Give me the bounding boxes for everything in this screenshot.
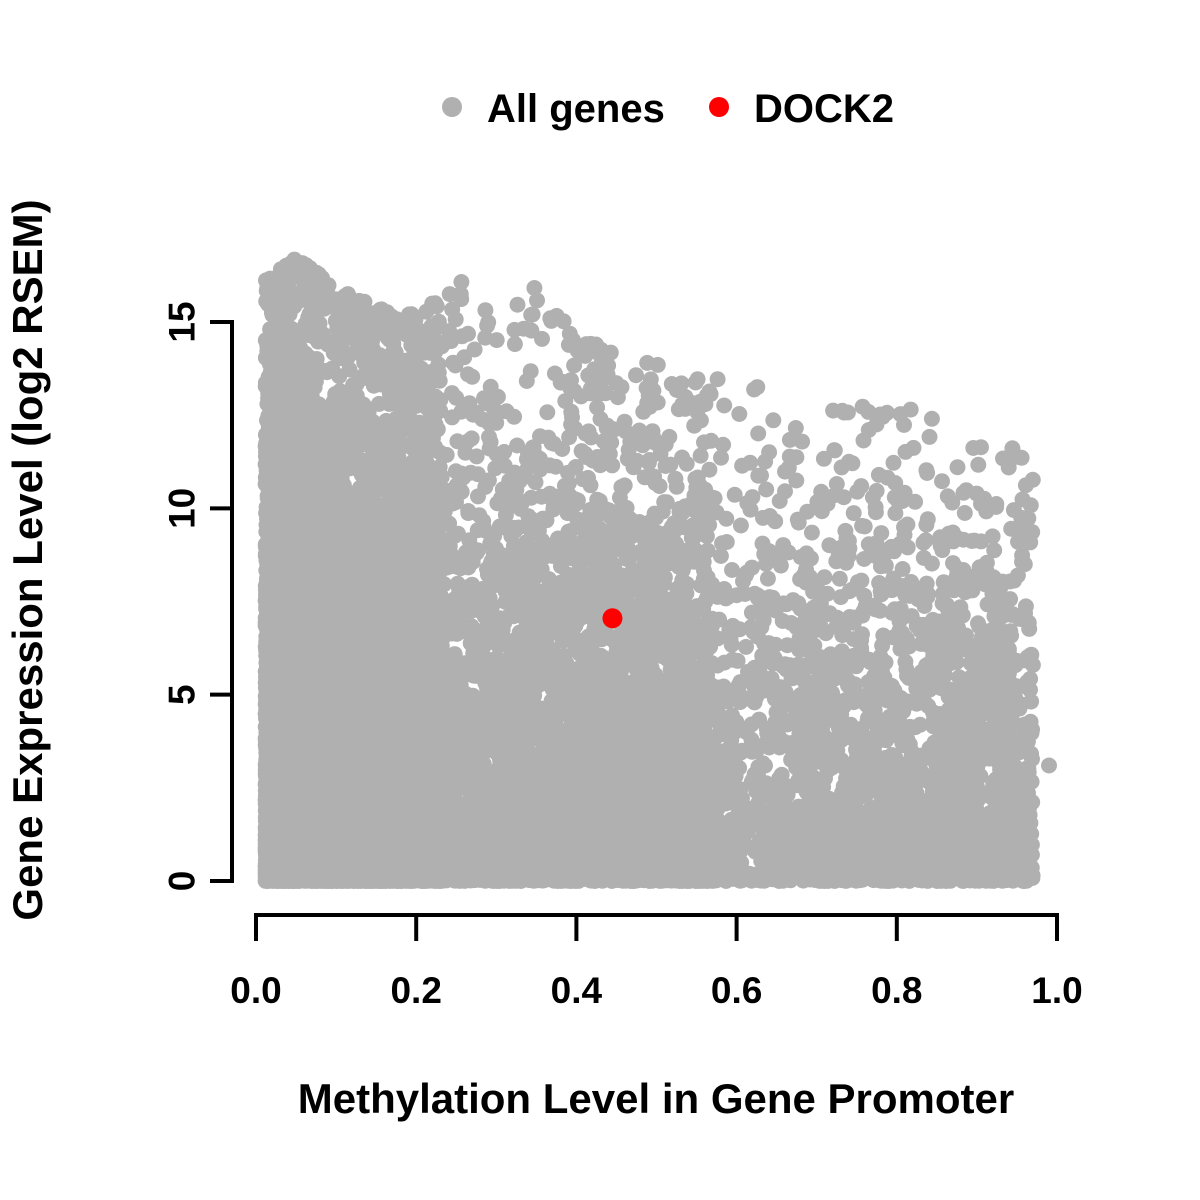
legend-label: DOCK2 xyxy=(754,87,894,131)
y-tick-label: 5 xyxy=(162,684,203,705)
x-tick-label: 0.0 xyxy=(230,970,281,1011)
y-tick-label: 10 xyxy=(162,488,203,529)
plot-canvas: 051015 0.00.20.40.60.81.0 Methylation Le… xyxy=(0,0,1200,1200)
dock2-data-point xyxy=(602,608,622,628)
y-tick-label: 0 xyxy=(162,871,203,892)
y-tick-label: 15 xyxy=(162,301,203,342)
dock2-point-group xyxy=(602,608,622,628)
legend-marker-icon xyxy=(709,97,729,117)
x-axis-title: Methylation Level in Gene Promoter xyxy=(298,1075,1014,1122)
legend-label: All genes xyxy=(487,87,665,131)
x-tick-label: 1.0 xyxy=(1031,970,1082,1011)
x-tick-label: 0.6 xyxy=(711,970,762,1011)
x-tick-label: 0.8 xyxy=(871,970,922,1011)
x-tick-label: 0.4 xyxy=(551,970,603,1011)
legend-marker-icon xyxy=(442,97,462,117)
x-tick-label: 0.2 xyxy=(390,970,441,1011)
scatter-plot-figure: 051015 0.00.20.40.60.81.0 Methylation Le… xyxy=(0,0,1200,1200)
y-axis-title: Gene Expression Level (log2 RSEM) xyxy=(4,199,51,920)
